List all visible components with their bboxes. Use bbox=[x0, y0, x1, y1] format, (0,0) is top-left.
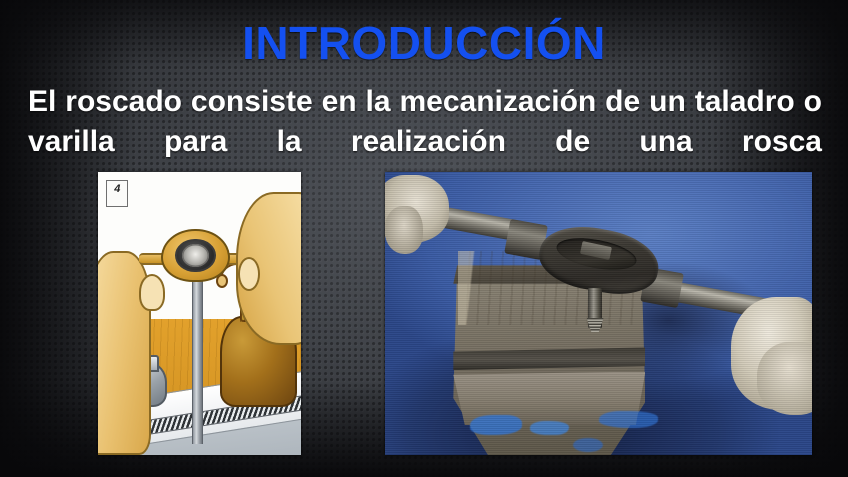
photo-grain-overlay bbox=[385, 172, 812, 455]
presentation-slide: INTRODUCCIÓN El roscado consiste en la m… bbox=[0, 0, 848, 477]
left-illustration-canvas: 4 bbox=[98, 172, 301, 455]
die-aperture bbox=[182, 244, 208, 267]
figure-right-photograph[interactable] bbox=[385, 172, 812, 455]
figure-number-badge: 4 bbox=[106, 180, 128, 207]
figure-left-illustration[interactable]: 4 bbox=[98, 172, 301, 455]
right-photo-canvas bbox=[385, 172, 812, 455]
slide-title: INTRODUCCIÓN bbox=[0, 16, 848, 70]
left-thumb bbox=[139, 274, 165, 311]
threaded-rod bbox=[192, 268, 203, 443]
